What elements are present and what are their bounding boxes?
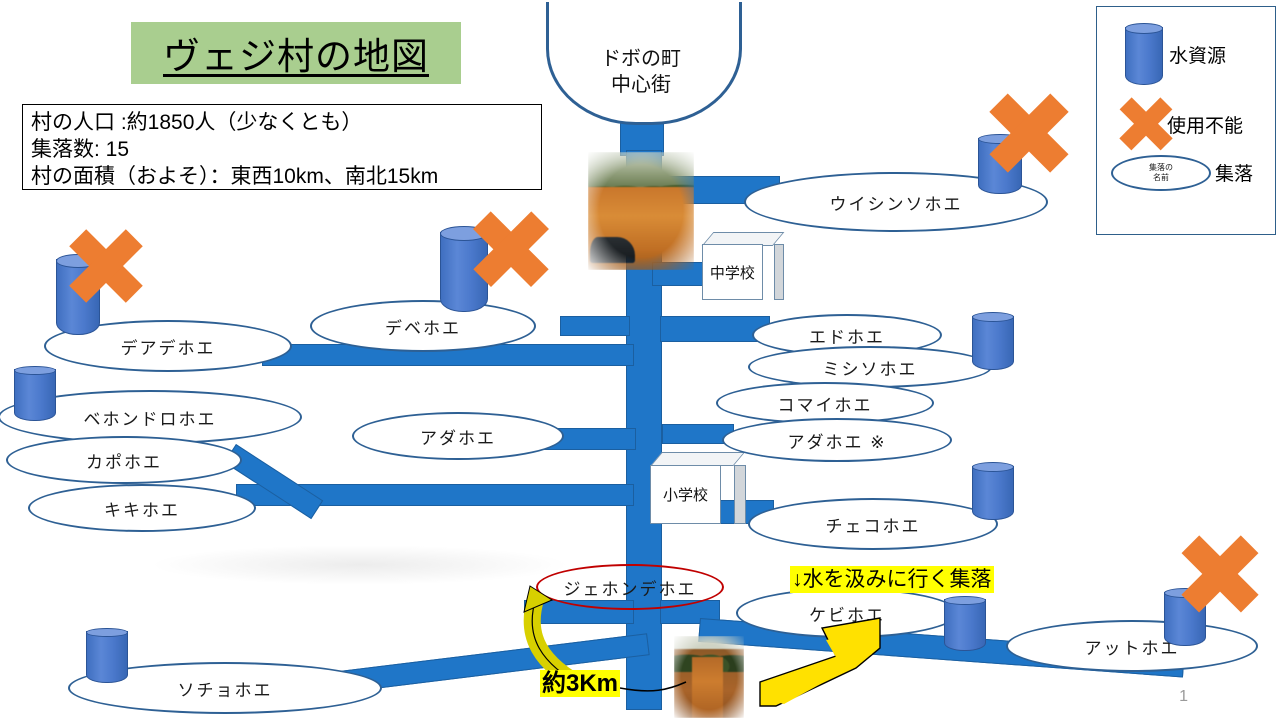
settlement-label: アダホエ ※: [788, 428, 887, 453]
settlement-label: エドホエ: [809, 323, 885, 348]
village-population: 村の人口 :約1850人（少なくとも）: [31, 109, 541, 136]
village-settlement-count: 集落数: 15: [31, 136, 541, 163]
junior-high-school-label: 中学校: [710, 262, 755, 283]
settlement-kikihoe[interactable]: キキホエ: [28, 484, 256, 532]
settlement-label: デアデホエ: [121, 334, 216, 359]
background-smudge: [150, 545, 570, 585]
water-source-chekohoe[interactable]: [972, 462, 1014, 524]
settlement-label: ケビホエ: [809, 601, 885, 626]
settlement-label: カポホエ: [86, 448, 162, 473]
settlement-label: ベホンドロホエ: [84, 405, 217, 430]
unusable-mark-debehoe-icon: [470, 208, 552, 290]
legend-water-source-icon: [1125, 23, 1163, 89]
settlement-kebihoe[interactable]: ケビホエ: [736, 588, 958, 638]
legend-water-source-label: 水資源: [1169, 41, 1226, 68]
elementary-school-label: 小学校: [663, 484, 708, 505]
settlement-kapohoe[interactable]: カポホエ: [6, 436, 242, 484]
legend-water-source-row: 水資源: [1169, 41, 1226, 68]
legend-unusable-label: 使用不能: [1167, 111, 1243, 138]
water-source-kebihoe[interactable]: [944, 596, 986, 654]
unusable-mark-attohoe-icon: [1178, 532, 1262, 616]
legend-box: 水資源 使用不能 集落の 名前 集落: [1096, 6, 1276, 235]
water-source-behondorohoe[interactable]: [14, 366, 56, 424]
unusable-mark-deadehoe-icon: [66, 226, 146, 306]
settlement-label: コマイホエ: [778, 391, 873, 416]
village-area: 村の面積（およそ）：東西10km、南北15km: [31, 163, 541, 190]
legend-settlement-row: 集落: [1215, 159, 1253, 186]
legend-settlement-sample-1: 集落の: [1149, 163, 1173, 173]
settlement-label: ウイシンソホエ: [830, 190, 963, 215]
settlement-chekohoe[interactable]: チェコホエ: [748, 498, 998, 550]
settlement-label: チェコホエ: [826, 512, 921, 537]
village-info-box: 村の人口 :約1850人（少なくとも） 集落数: 15 村の面積（およそ）：東西…: [22, 104, 542, 190]
settlement-label: ミシソホエ: [823, 355, 918, 380]
road-photo-bottom: [674, 636, 744, 718]
settlement-label: ジェホンデホエ: [564, 575, 697, 600]
page-title-text: ヴェジ村の地図: [163, 26, 429, 80]
town-line-2: 中心街: [546, 72, 736, 98]
water-source-sochohoe[interactable]: [86, 628, 128, 686]
settlement-debehoe[interactable]: デベホエ: [310, 300, 536, 352]
road-branch-mishisohoe: [560, 316, 630, 336]
page-title: ヴェジ村の地図: [131, 22, 461, 84]
road-photo-top: [588, 152, 694, 270]
map-canvas: ドボの町 中心街 中学校 小学校 ウイシンソホエ デベホエ デアデホエ エドホエ…: [0, 0, 1280, 720]
settlement-mishisohoe[interactable]: ミシソホエ: [748, 346, 992, 388]
legend-settlement-icon: 集落の 名前: [1111, 155, 1211, 191]
distance-annotation: 約3Km: [540, 670, 620, 697]
settlement-label: ソチョホエ: [178, 676, 273, 701]
fetch-water-annotation: ↓水を汲みに行く集落: [790, 566, 994, 593]
settlement-adahoe-2[interactable]: アダホエ ※: [722, 418, 952, 462]
junior-high-school-box: 中学校: [702, 232, 784, 300]
settlement-label: アダホエ: [420, 424, 496, 449]
settlement-jehondehoe[interactable]: ジェホンデホエ: [536, 564, 724, 610]
legend-settlement-sample-2: 名前: [1153, 173, 1169, 183]
elementary-school-box: 小学校: [650, 452, 746, 524]
town-line-1: ドボの町: [546, 46, 736, 72]
legend-unusable-row: 使用不能: [1167, 111, 1243, 138]
unusable-mark-uishinsohoe-icon: [986, 90, 1072, 176]
settlement-adahoe[interactable]: アダホエ: [352, 412, 564, 460]
settlement-label: キキホエ: [104, 496, 180, 521]
settlement-attohoe[interactable]: アットホエ: [1006, 620, 1258, 672]
legend-settlement-label: 集落: [1215, 159, 1253, 186]
water-source-mishisohoe[interactable]: [972, 312, 1014, 374]
town-center-label: ドボの町 中心街: [546, 46, 736, 98]
page-number: 1: [1179, 688, 1188, 706]
